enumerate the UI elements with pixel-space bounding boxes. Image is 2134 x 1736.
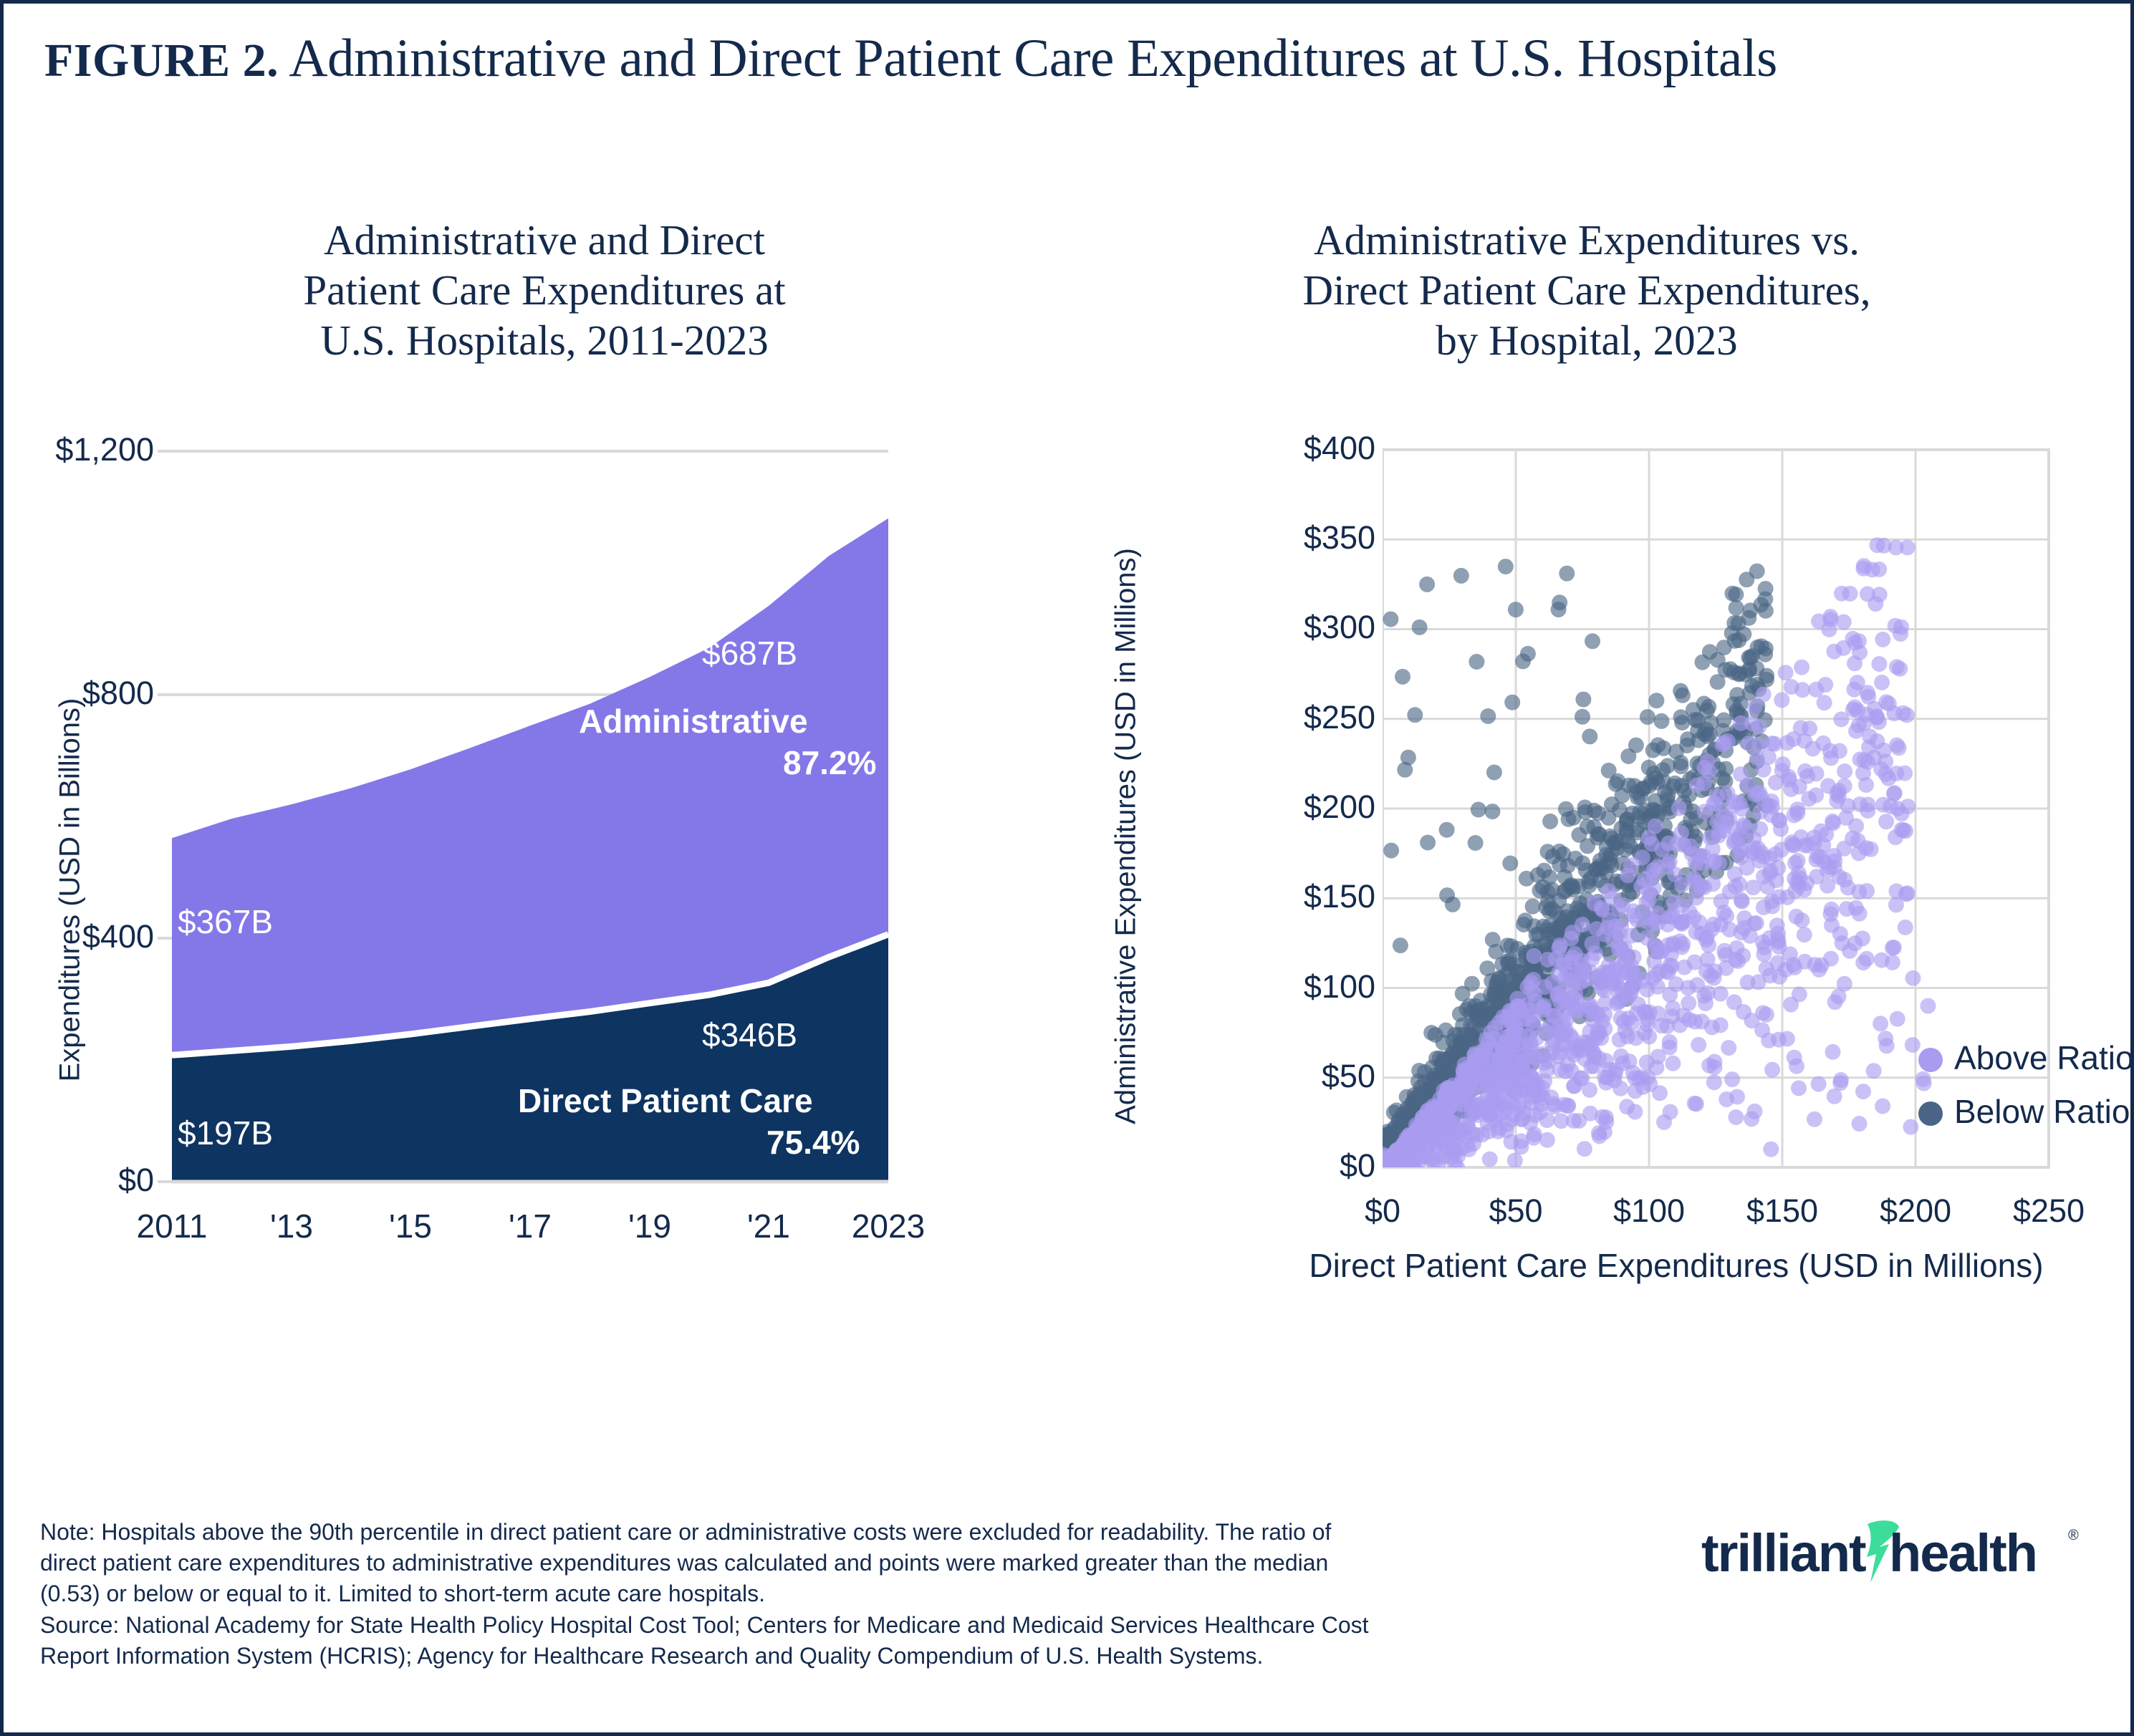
right-xtick-150: $150 [1718,1192,1847,1230]
source-line-2: Report Information System (HCRIS); Agenc… [40,1641,1659,1672]
left-ytick-1200: $1,200 [0,431,154,468]
right-ytick-350: $350 [1189,519,1375,556]
scatter-chart: Administrative Expenditures (USD in Mill… [1067,415,2106,1447]
figure-title: FIGURE 2. Administrative and Direct Pati… [44,29,1979,89]
figure-label: FIGURE 2. [44,34,279,87]
right-xtick-0: $0 [1318,1192,1447,1230]
left-xtick-2023: 2023 [827,1207,949,1245]
left-title-line-2: Patient Care Expenditures at [143,265,946,315]
right-xtick-50: $50 [1451,1192,1580,1230]
right-xtick-100: $100 [1585,1192,1714,1230]
left-ytick-400: $400 [0,918,154,955]
right-chart-panel: Administrative Expenditures vs. Direct P… [1067,215,2106,1475]
left-xtick-15: '15 [350,1207,471,1245]
source-line-1: Source: National Academy for State Healt… [40,1610,1659,1641]
right-ytick-0: $0 [1189,1147,1375,1185]
left-xtick-2011: 2011 [111,1207,233,1245]
logo-word-health: health [1889,1523,2037,1583]
dpc-start-label: $197B [178,1114,273,1152]
left-title-line-1: Administrative and Direct [143,215,946,265]
legend-label-below: Below Ratio [1954,1093,2130,1130]
note-line-3: (0.53) or below or equal to it. Limited … [40,1578,1659,1609]
left-chart-panel: Administrative and Direct Patient Care E… [29,215,1060,1475]
legend-label-above: Above Ratio [1954,1039,2134,1076]
right-ytick-200: $200 [1189,789,1375,826]
left-xtick-21: '21 [708,1207,830,1245]
admin-growth-label: 87.2% [783,743,876,782]
right-ytick-150: $150 [1189,878,1375,915]
left-ytick-800: $800 [0,675,154,712]
left-xtick-13: '13 [231,1207,352,1245]
note-line-2: direct patient care expenditures to admi… [40,1548,1659,1578]
admin-series-label: Administrative [579,702,808,741]
below-ratio-dot-icon [1918,1101,1943,1126]
right-chart-title: Administrative Expenditures vs. Direct P… [1164,215,2009,366]
admin-start-label: $367B [178,902,273,941]
right-ytick-50: $50 [1189,1058,1375,1095]
right-x-axis-label: Direct Patient Care Expenditures (USD in… [1254,1246,2099,1285]
footer-notes: Note: Hospitals above the 90th percentil… [40,1517,1659,1672]
scatter-chart-svg [1383,415,2099,1210]
right-xtick-200: $200 [1851,1192,1980,1230]
right-ytick-100: $100 [1189,968,1375,1006]
dpc-growth-label: 75.4% [766,1123,860,1162]
legend-item-below-ratio[interactable]: Below Ratio [1918,1092,2130,1131]
left-ytick-0: $0 [0,1162,154,1199]
logo-registered-mark: ® [2068,1528,2079,1543]
figure-title-text: Administrative and Direct Patient Care E… [289,29,1777,88]
admin-end-label: $687B [702,634,797,672]
trilliant-health-logo: trilliant health ® [1701,1520,2088,1586]
area-chart: Expenditures (USD in Billions) $1,200 $8… [29,415,1060,1447]
right-title-line-2: Direct Patient Care Expenditures, [1164,265,2009,315]
right-ytick-250: $250 [1189,699,1375,736]
left-xtick-19: '19 [589,1207,711,1245]
right-ytick-300: $300 [1189,609,1375,646]
left-title-line-3: U.S. Hospitals, 2011-2023 [143,315,946,365]
logo-word-trilliant: trilliant [1701,1523,1866,1583]
above-ratio-dot-icon [1918,1048,1943,1072]
right-y-axis-label: Administrative Expenditures (USD in Mill… [1110,529,1143,1144]
legend-item-above-ratio[interactable]: Above Ratio [1918,1038,2134,1077]
right-title-line-1: Administrative Expenditures vs. [1164,215,2009,265]
left-xtick-17: '17 [469,1207,591,1245]
right-title-line-3: by Hospital, 2023 [1164,315,2009,365]
right-ytick-400: $400 [1189,430,1375,467]
dpc-series-label: Direct Patient Care [518,1081,813,1120]
right-xtick-250: $250 [1984,1192,2113,1230]
note-line-1: Note: Hospitals above the 90th percentil… [40,1517,1659,1548]
dpc-end-label: $346B [702,1016,797,1054]
left-chart-title: Administrative and Direct Patient Care E… [143,215,946,366]
